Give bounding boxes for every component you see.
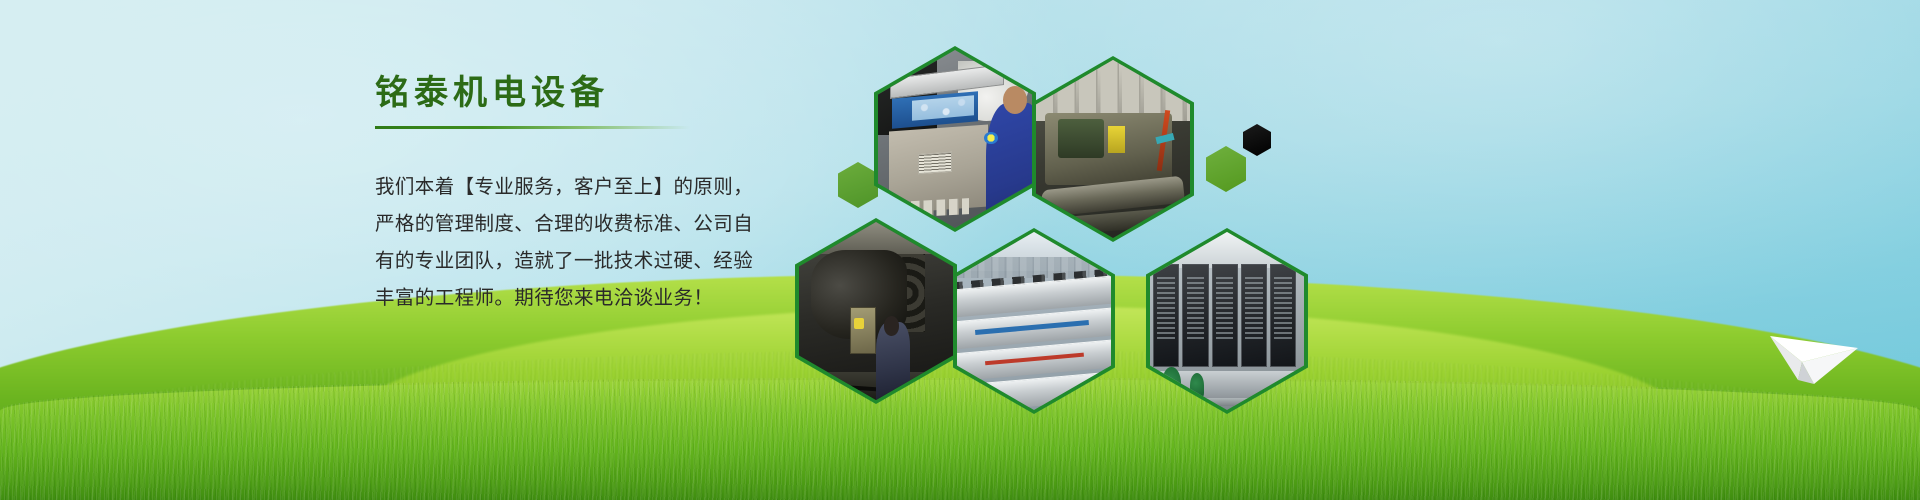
hex-photo-air-handler-unit[interactable]: [874, 46, 1036, 232]
condenser-units-photo: [1150, 232, 1304, 410]
green-hexagon-right-icon: [1206, 146, 1246, 192]
hexagon-photo-cluster: [0, 0, 1920, 500]
air-handler-unit-photo: [878, 50, 1032, 228]
hex-photo-cooling-tower-rows[interactable]: [953, 228, 1115, 414]
hex-photo-inner: [799, 222, 953, 400]
green-hexagon-left-icon: [838, 162, 878, 208]
paper-plane-icon: [1768, 318, 1860, 388]
hero-banner: 铭泰机电设备 我们本着【专业服务，客户至上】的原则， 严格的管理制度、合理的收费…: [0, 0, 1920, 500]
hex-photo-boiler-duct[interactable]: [795, 218, 957, 404]
dark-hexagon-right-icon: [1243, 124, 1271, 156]
hex-photo-inner: [957, 232, 1111, 410]
compressor-room-photo: [1036, 60, 1190, 238]
boiler-duct-photo: [799, 222, 953, 400]
cooling-tower-rows-photo: [957, 232, 1111, 410]
hex-photo-inner: [1150, 232, 1304, 410]
hex-photo-inner: [1036, 60, 1190, 238]
hex-photo-inner: [878, 50, 1032, 228]
hex-photo-condenser-units[interactable]: [1146, 228, 1308, 414]
hex-photo-compressor-room[interactable]: [1032, 56, 1194, 242]
